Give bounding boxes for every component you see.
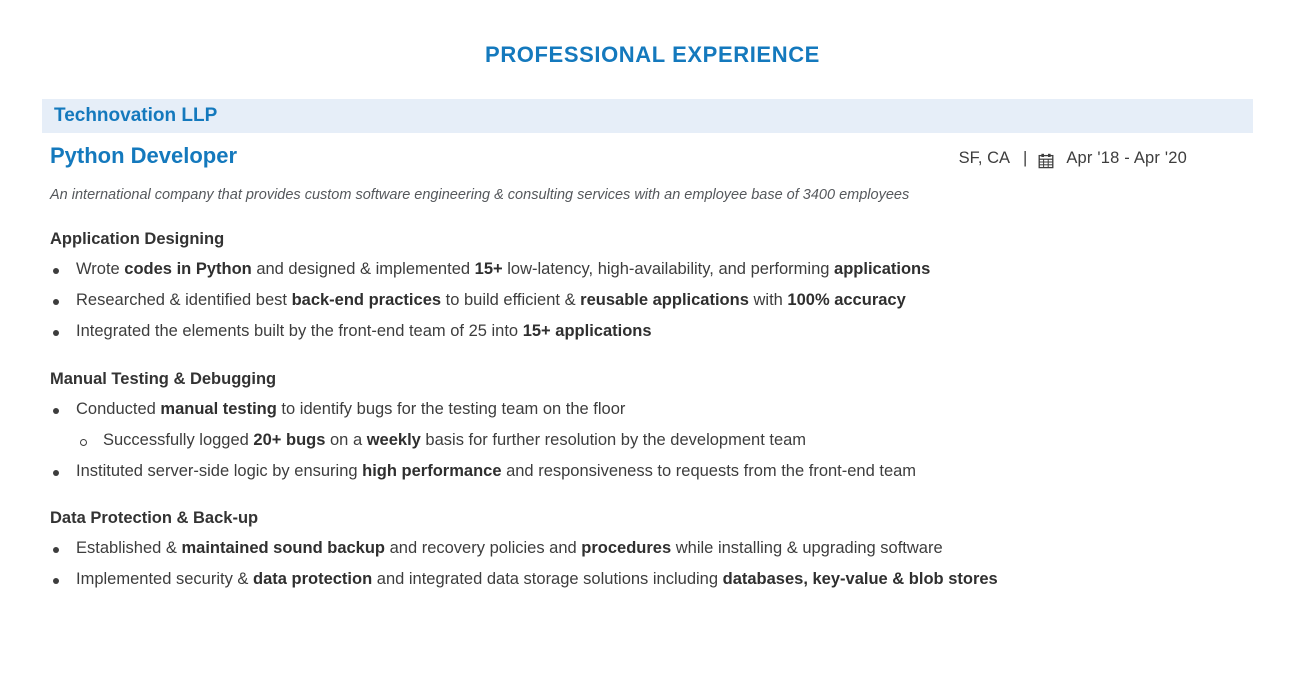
bullet-list: Wrote codes in Python and designed & imp… bbox=[50, 254, 1305, 347]
bullet-item: Integrated the elements built by the fro… bbox=[50, 316, 1305, 347]
bullet-emphasis: weekly bbox=[367, 431, 421, 449]
company-name: Technovation LLP bbox=[54, 105, 217, 127]
bullet-text: with bbox=[749, 291, 788, 309]
resume-page: PROFESSIONAL EXPERIENCE Technovation LLP… bbox=[0, 0, 1305, 684]
group-heading: Application Designing bbox=[50, 230, 1305, 249]
bullet-emphasis: applications bbox=[834, 260, 930, 278]
bullet-list: Conducted manual testing to identify bug… bbox=[50, 394, 1305, 487]
bullet-text: Conducted bbox=[76, 400, 160, 418]
employment-dates: Apr '18 - Apr '20 bbox=[1066, 149, 1187, 168]
bullet-list: Established & maintained sound backup an… bbox=[50, 533, 1305, 595]
bullet-text: low-latency, high-availability, and perf… bbox=[503, 260, 834, 278]
bullet-emphasis: reusable applications bbox=[580, 291, 749, 309]
bullet-item: Researched & identified best back-end pr… bbox=[50, 285, 1305, 316]
bullet-text: to build efficient & bbox=[441, 291, 580, 309]
bullet-emphasis: maintained sound backup bbox=[181, 539, 385, 557]
bullet-emphasis: procedures bbox=[581, 539, 671, 557]
role-title: Python Developer bbox=[50, 143, 237, 169]
company-banner: Technovation LLP bbox=[42, 99, 1253, 133]
bullet-text: and designed & implemented bbox=[252, 260, 475, 278]
meta-separator: | bbox=[1023, 149, 1027, 168]
bullet-text: and integrated data storage solutions in… bbox=[372, 570, 722, 588]
bullet-text: while installing & upgrading software bbox=[671, 539, 943, 557]
page-title: PROFESSIONAL EXPERIENCE bbox=[0, 0, 1305, 67]
bullet-text: Wrote bbox=[76, 260, 124, 278]
bullet-text: Researched & identified best bbox=[76, 291, 292, 309]
bullet-emphasis: 15+ applications bbox=[523, 322, 652, 340]
calendar-icon bbox=[1038, 153, 1054, 169]
bullet-text: to identify bugs for the testing team on… bbox=[277, 400, 626, 418]
bullet-item: Wrote codes in Python and designed & imp… bbox=[50, 254, 1305, 285]
bullet-text: and responsiveness to requests from the … bbox=[502, 462, 917, 480]
bullet-text: Implemented security & bbox=[76, 570, 253, 588]
experience-group: Data Protection & Back-upEstablished & m… bbox=[50, 509, 1305, 595]
bullet-item: Established & maintained sound backup an… bbox=[50, 533, 1305, 564]
bullet-emphasis: manual testing bbox=[160, 400, 276, 418]
group-heading: Manual Testing & Debugging bbox=[50, 370, 1305, 389]
bullet-emphasis: 15+ bbox=[475, 260, 503, 278]
bullet-emphasis: databases, key-value & blob stores bbox=[723, 570, 998, 588]
group-heading: Data Protection & Back-up bbox=[50, 509, 1305, 528]
bullet-item: Instituted server-side logic by ensuring… bbox=[50, 456, 1305, 487]
bullet-emphasis: high performance bbox=[362, 462, 501, 480]
company-description: An international company that provides c… bbox=[50, 186, 1305, 205]
role-meta: SF, CA | Apr '18 - Apr '20 bbox=[959, 149, 1187, 168]
bullet-emphasis: 100% accuracy bbox=[787, 291, 905, 309]
location-text: SF, CA bbox=[959, 149, 1010, 168]
bullet-text: on a bbox=[325, 431, 366, 449]
bullet-item: Implemented security & data protection a… bbox=[50, 564, 1305, 595]
bullet-text: Successfully logged bbox=[103, 431, 253, 449]
bullet-text: Established & bbox=[76, 539, 181, 557]
bullet-text: and recovery policies and bbox=[385, 539, 581, 557]
bullet-text: basis for further resolution by the deve… bbox=[421, 431, 806, 449]
experience-group: Manual Testing & DebuggingConducted manu… bbox=[50, 370, 1305, 487]
bullet-emphasis: back-end practices bbox=[292, 291, 441, 309]
role-row: Python Developer SF, CA | Apr '18 - Apr … bbox=[50, 143, 1187, 169]
bullet-text: Instituted server-side logic by ensuring bbox=[76, 462, 362, 480]
bullet-emphasis: data protection bbox=[253, 570, 372, 588]
sub-bullet-item: Successfully logged 20+ bugs on a weekly… bbox=[50, 425, 1305, 456]
bullet-emphasis: 20+ bugs bbox=[253, 431, 325, 449]
experience-group: Application DesigningWrote codes in Pyth… bbox=[50, 230, 1305, 347]
bullet-item: Conducted manual testing to identify bug… bbox=[50, 394, 1305, 425]
experience-groups: Application DesigningWrote codes in Pyth… bbox=[50, 230, 1305, 595]
bullet-text: Integrated the elements built by the fro… bbox=[76, 322, 523, 340]
bullet-emphasis: codes in Python bbox=[124, 260, 251, 278]
